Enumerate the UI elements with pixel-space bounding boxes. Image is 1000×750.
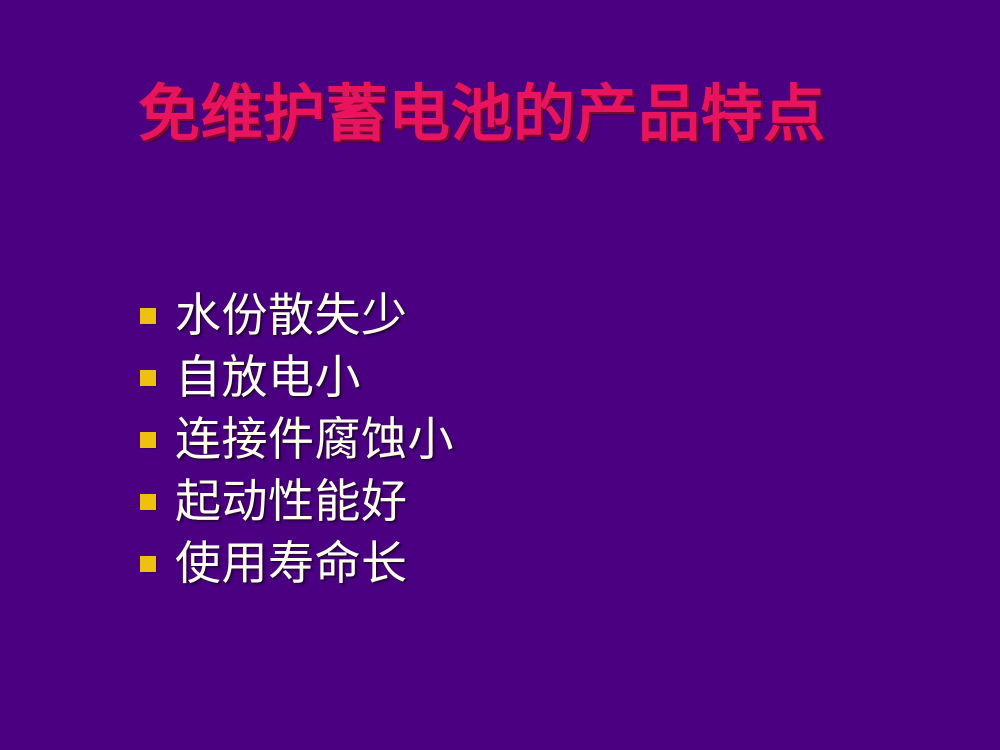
list-item: 自放电小 (140, 346, 900, 408)
list-item-label: 连接件腐蚀小 (175, 411, 454, 467)
page-title: 免维护蓄电池的产品特点 (138, 74, 898, 154)
list-item: 连接件腐蚀小 (140, 408, 900, 470)
filled-square-bullet-icon (140, 308, 156, 324)
filled-square-bullet-icon (140, 556, 156, 572)
list-item-label: 自放电小 (175, 349, 361, 405)
filled-square-bullet-icon (140, 432, 156, 448)
list-item-label: 水份散失少 (175, 287, 408, 343)
list-item-label: 起动性能好 (175, 473, 408, 529)
filled-square-bullet-icon (140, 494, 156, 510)
filled-square-bullet-icon (140, 370, 156, 386)
presentation-slide: 免维护蓄电池的产品特点 水份散失少 自放电小 连接件腐蚀小 起动性能好 使用寿命… (0, 0, 1000, 750)
feature-bullet-list: 水份散失少 自放电小 连接件腐蚀小 起动性能好 使用寿命长 (140, 284, 900, 594)
list-item: 水份散失少 (140, 284, 900, 346)
list-item-label: 使用寿命长 (175, 535, 408, 591)
list-item: 起动性能好 (140, 470, 900, 532)
list-item: 使用寿命长 (140, 532, 900, 594)
